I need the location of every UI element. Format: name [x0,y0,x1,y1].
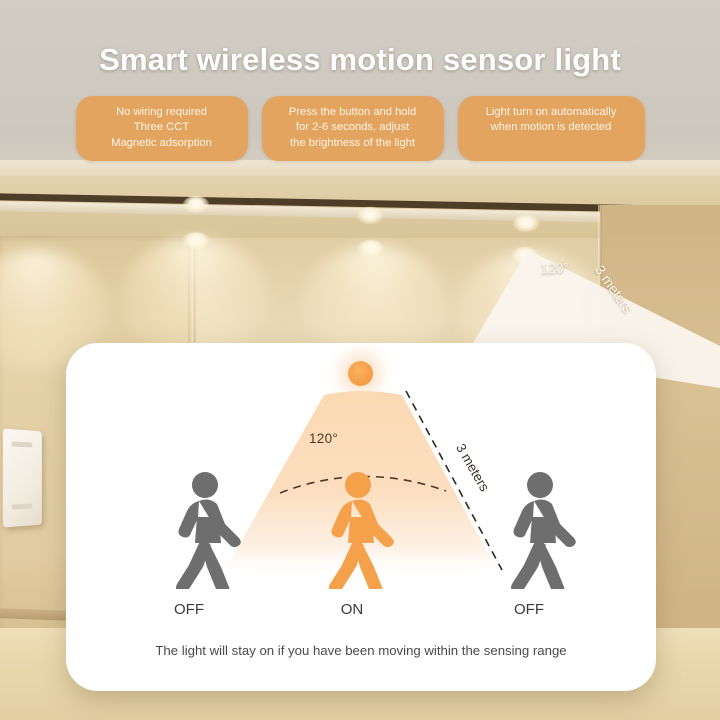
downlight-icon [513,215,539,232]
state-label-left: OFF [144,601,234,618]
state-label-center: ON [307,601,397,618]
badge-line: Three CCT [88,120,236,135]
light-switch-plate [3,429,42,528]
badge-line: Press the button and hold [274,105,432,120]
feature-badge-row: No wiring required Three CCT Magnetic ad… [0,96,720,161]
badge-line: Light turn on automatically [470,105,633,120]
badge-line: for 2-6 seconds, adjust [274,120,432,135]
downlight-icon [183,196,209,213]
badge-brightness: Press the button and hold for 2-6 second… [262,96,444,161]
badge-line: Magnetic adsorption [88,136,236,151]
product-infographic: 120° 3 meters Smart wireless motion sens… [0,0,720,720]
person-center-walking-icon [316,471,402,589]
state-label-right: OFF [484,601,574,618]
badge-line: when motion is detected [470,120,633,135]
bg-beam-angle-label: 120° [540,259,570,276]
wall-light-glow [120,238,270,358]
badge-line: No wiring required [88,105,236,120]
downlight-icon [357,207,383,224]
person-right-walking-icon [498,471,584,589]
sensing-range-diagram-card: 120° 3 meters [66,343,656,691]
badge-no-wiring: No wiring required Three CCT Magnetic ad… [76,96,248,161]
page-title: Smart wireless motion sensor light [0,42,720,78]
badge-line: the brightness of the light [274,136,432,151]
cone-angle-label: 120° [309,431,338,446]
person-left-walking-icon [163,471,249,589]
diagram-caption: The light will stay on if you have been … [66,643,656,658]
badge-auto-on: Light turn on automatically when motion … [458,96,645,161]
